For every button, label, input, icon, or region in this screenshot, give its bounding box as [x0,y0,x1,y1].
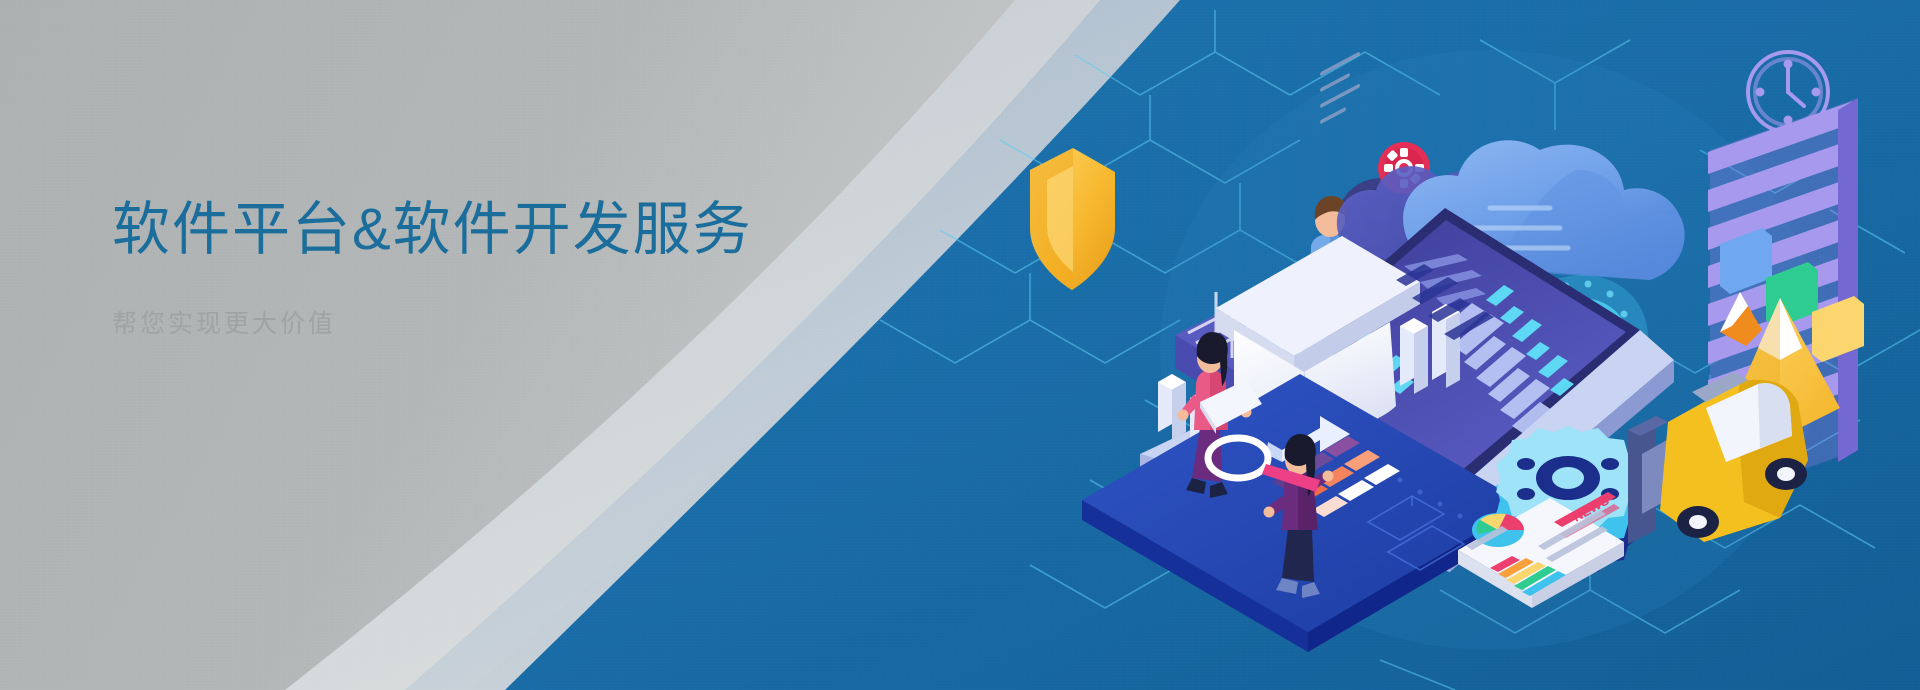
page-subtitle: 帮您实现更大价值 [112,304,932,340]
hero-copy: 软件平台&软件开发服务 帮您实现更大价值 [112,196,932,340]
hero-banner: NEWS [0,0,1920,690]
clock-icon [1748,52,1828,132]
shield-graphic [1030,148,1115,290]
hero-illustration: NEWS [1020,30,1900,670]
page-title: 软件平台&软件开发服务 [112,196,932,264]
